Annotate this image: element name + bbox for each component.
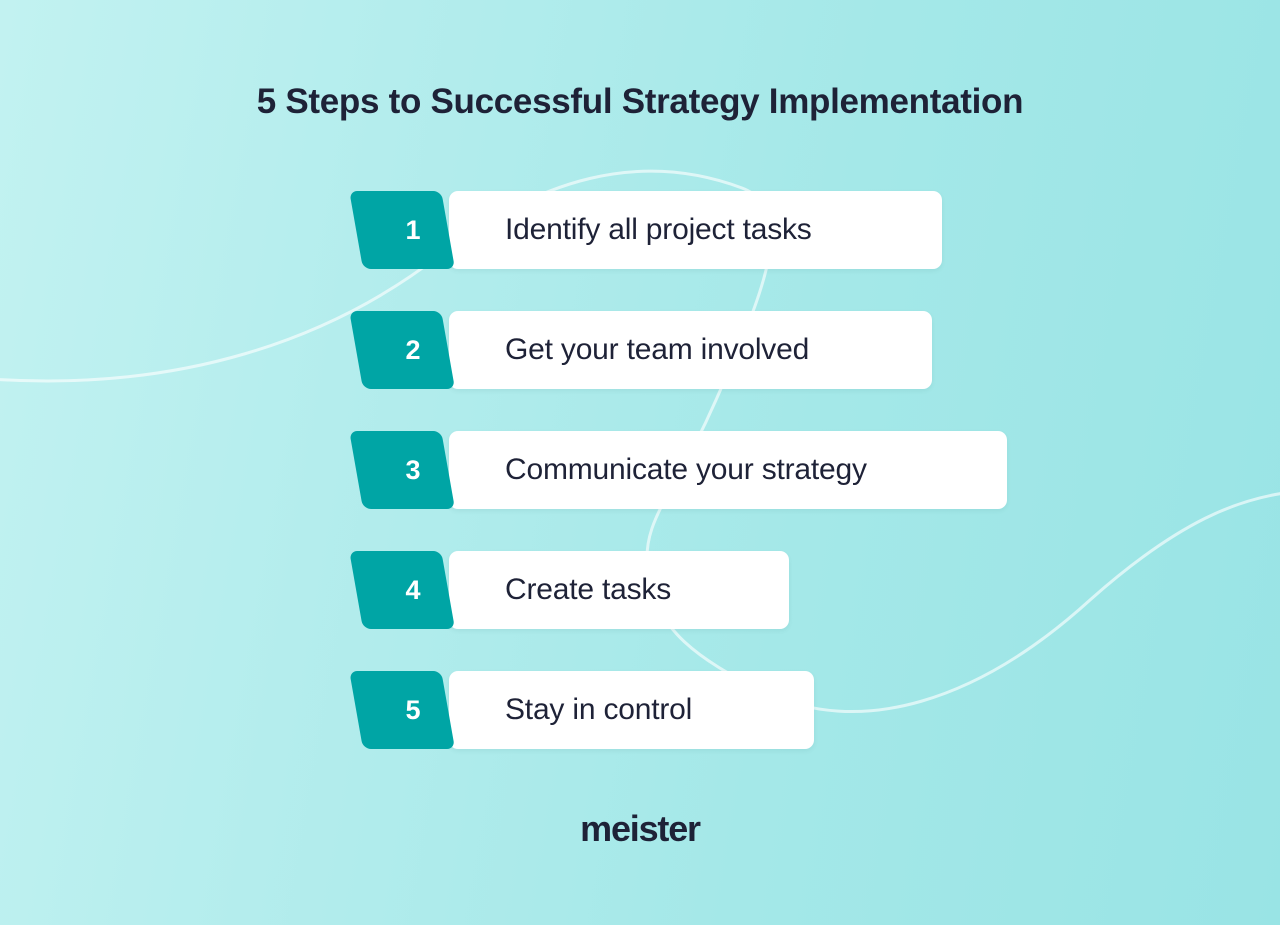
list-item[interactable]: 5 Stay in control	[363, 671, 1007, 749]
step-card[interactable]: Stay in control	[449, 671, 814, 749]
step-label: Stay in control	[505, 693, 692, 727]
page-title: 5 Steps to Successful Strategy Implement…	[0, 82, 1280, 122]
step-number: 3	[363, 431, 455, 509]
step-number-badge: 2	[363, 311, 455, 389]
steps-list: 1 Identify all project tasks 2 Get your …	[363, 191, 1007, 791]
step-number: 5	[363, 671, 455, 749]
step-number-badge: 5	[363, 671, 455, 749]
step-card[interactable]: Get your team involved	[449, 311, 932, 389]
step-card[interactable]: Identify all project tasks	[449, 191, 942, 269]
step-number-badge: 1	[363, 191, 455, 269]
step-label: Get your team involved	[505, 333, 809, 367]
step-number: 1	[363, 191, 455, 269]
list-item[interactable]: 2 Get your team involved	[363, 311, 1007, 389]
step-label: Create tasks	[505, 573, 671, 607]
list-item[interactable]: 4 Create tasks	[363, 551, 1007, 629]
step-card[interactable]: Create tasks	[449, 551, 789, 629]
step-label: Communicate your strategy	[505, 453, 867, 487]
list-item[interactable]: 1 Identify all project tasks	[363, 191, 1007, 269]
step-number-badge: 4	[363, 551, 455, 629]
list-item[interactable]: 3 Communicate your strategy	[363, 431, 1007, 509]
step-card[interactable]: Communicate your strategy	[449, 431, 1007, 509]
step-number: 4	[363, 551, 455, 629]
brand-logo: meister	[0, 808, 1280, 850]
step-number-badge: 3	[363, 431, 455, 509]
step-label: Identify all project tasks	[505, 213, 812, 247]
step-number: 2	[363, 311, 455, 389]
